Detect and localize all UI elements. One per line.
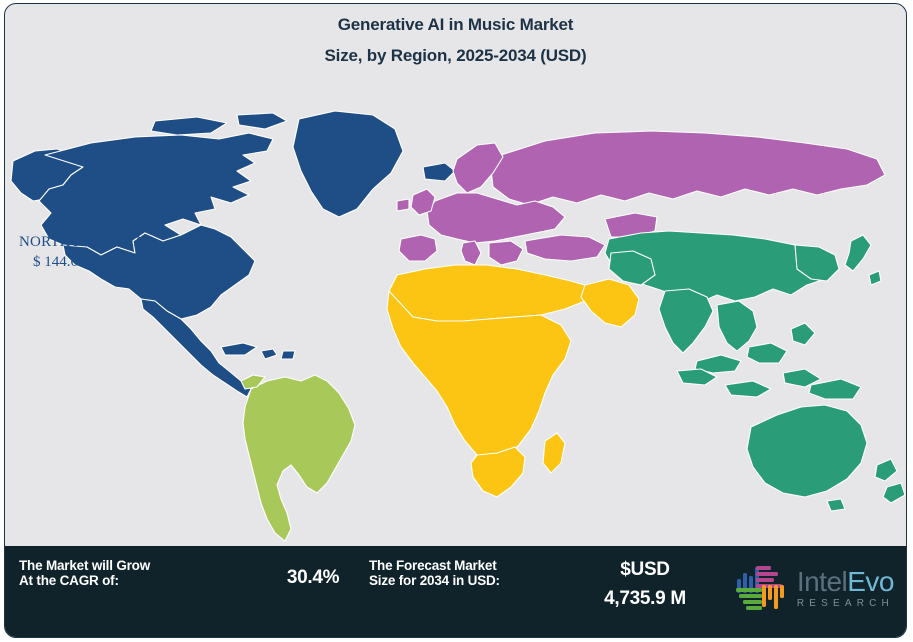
world-map bbox=[5, 89, 907, 549]
forecast-label-line1: The Forecast Market bbox=[369, 558, 500, 573]
brand-logo: IntelEvo RESEARCH bbox=[732, 562, 894, 614]
pinwheel-logo-icon bbox=[732, 562, 788, 614]
page-subtitle: Size, by Region, 2025-2034 (USD) bbox=[5, 45, 906, 67]
callout-region-label: NORTH AMERICA bbox=[19, 232, 144, 252]
forecast-value-line2: 4,735.9 M bbox=[565, 587, 725, 611]
header: Generative AI in Music Market Size, by R… bbox=[5, 4, 906, 67]
forecast-label: The Forecast Market Size for 2034 in USD… bbox=[369, 558, 500, 588]
forecast-label-line2: Size for 2034 in USD: bbox=[369, 573, 500, 588]
logo-word-part2: Evo bbox=[847, 566, 894, 597]
region-middle-east-africa bbox=[387, 265, 639, 497]
region-latin-america bbox=[241, 375, 355, 541]
forecast-value: $USD 4,735.9 M bbox=[565, 558, 725, 611]
region-asia-pacific bbox=[605, 231, 905, 511]
logo-tagline: RESEARCH bbox=[797, 599, 894, 609]
logo-word-part1: Intel bbox=[797, 566, 847, 597]
logo-wordmark: IntelEvo RESEARCH bbox=[797, 568, 894, 609]
callout-region-value: $ 144.67 M bbox=[19, 252, 144, 272]
cagr-label-line1: The Market will Grow bbox=[19, 558, 150, 573]
infographic-card: Generative AI in Music Market Size, by R… bbox=[4, 3, 907, 638]
page-title: Generative AI in Music Market bbox=[5, 14, 906, 36]
callout-north-america: NORTH AMERICA $ 144.67 M bbox=[19, 232, 144, 272]
forecast-value-line1: $USD bbox=[565, 558, 725, 582]
footer-bar: The Market will Grow At the CAGR of: 30.… bbox=[5, 546, 906, 637]
world-map-svg bbox=[5, 89, 907, 549]
cagr-label: The Market will Grow At the CAGR of: bbox=[19, 558, 150, 588]
cagr-value: 30.4% bbox=[253, 566, 373, 590]
cagr-label-line2: At the CAGR of: bbox=[19, 573, 150, 588]
